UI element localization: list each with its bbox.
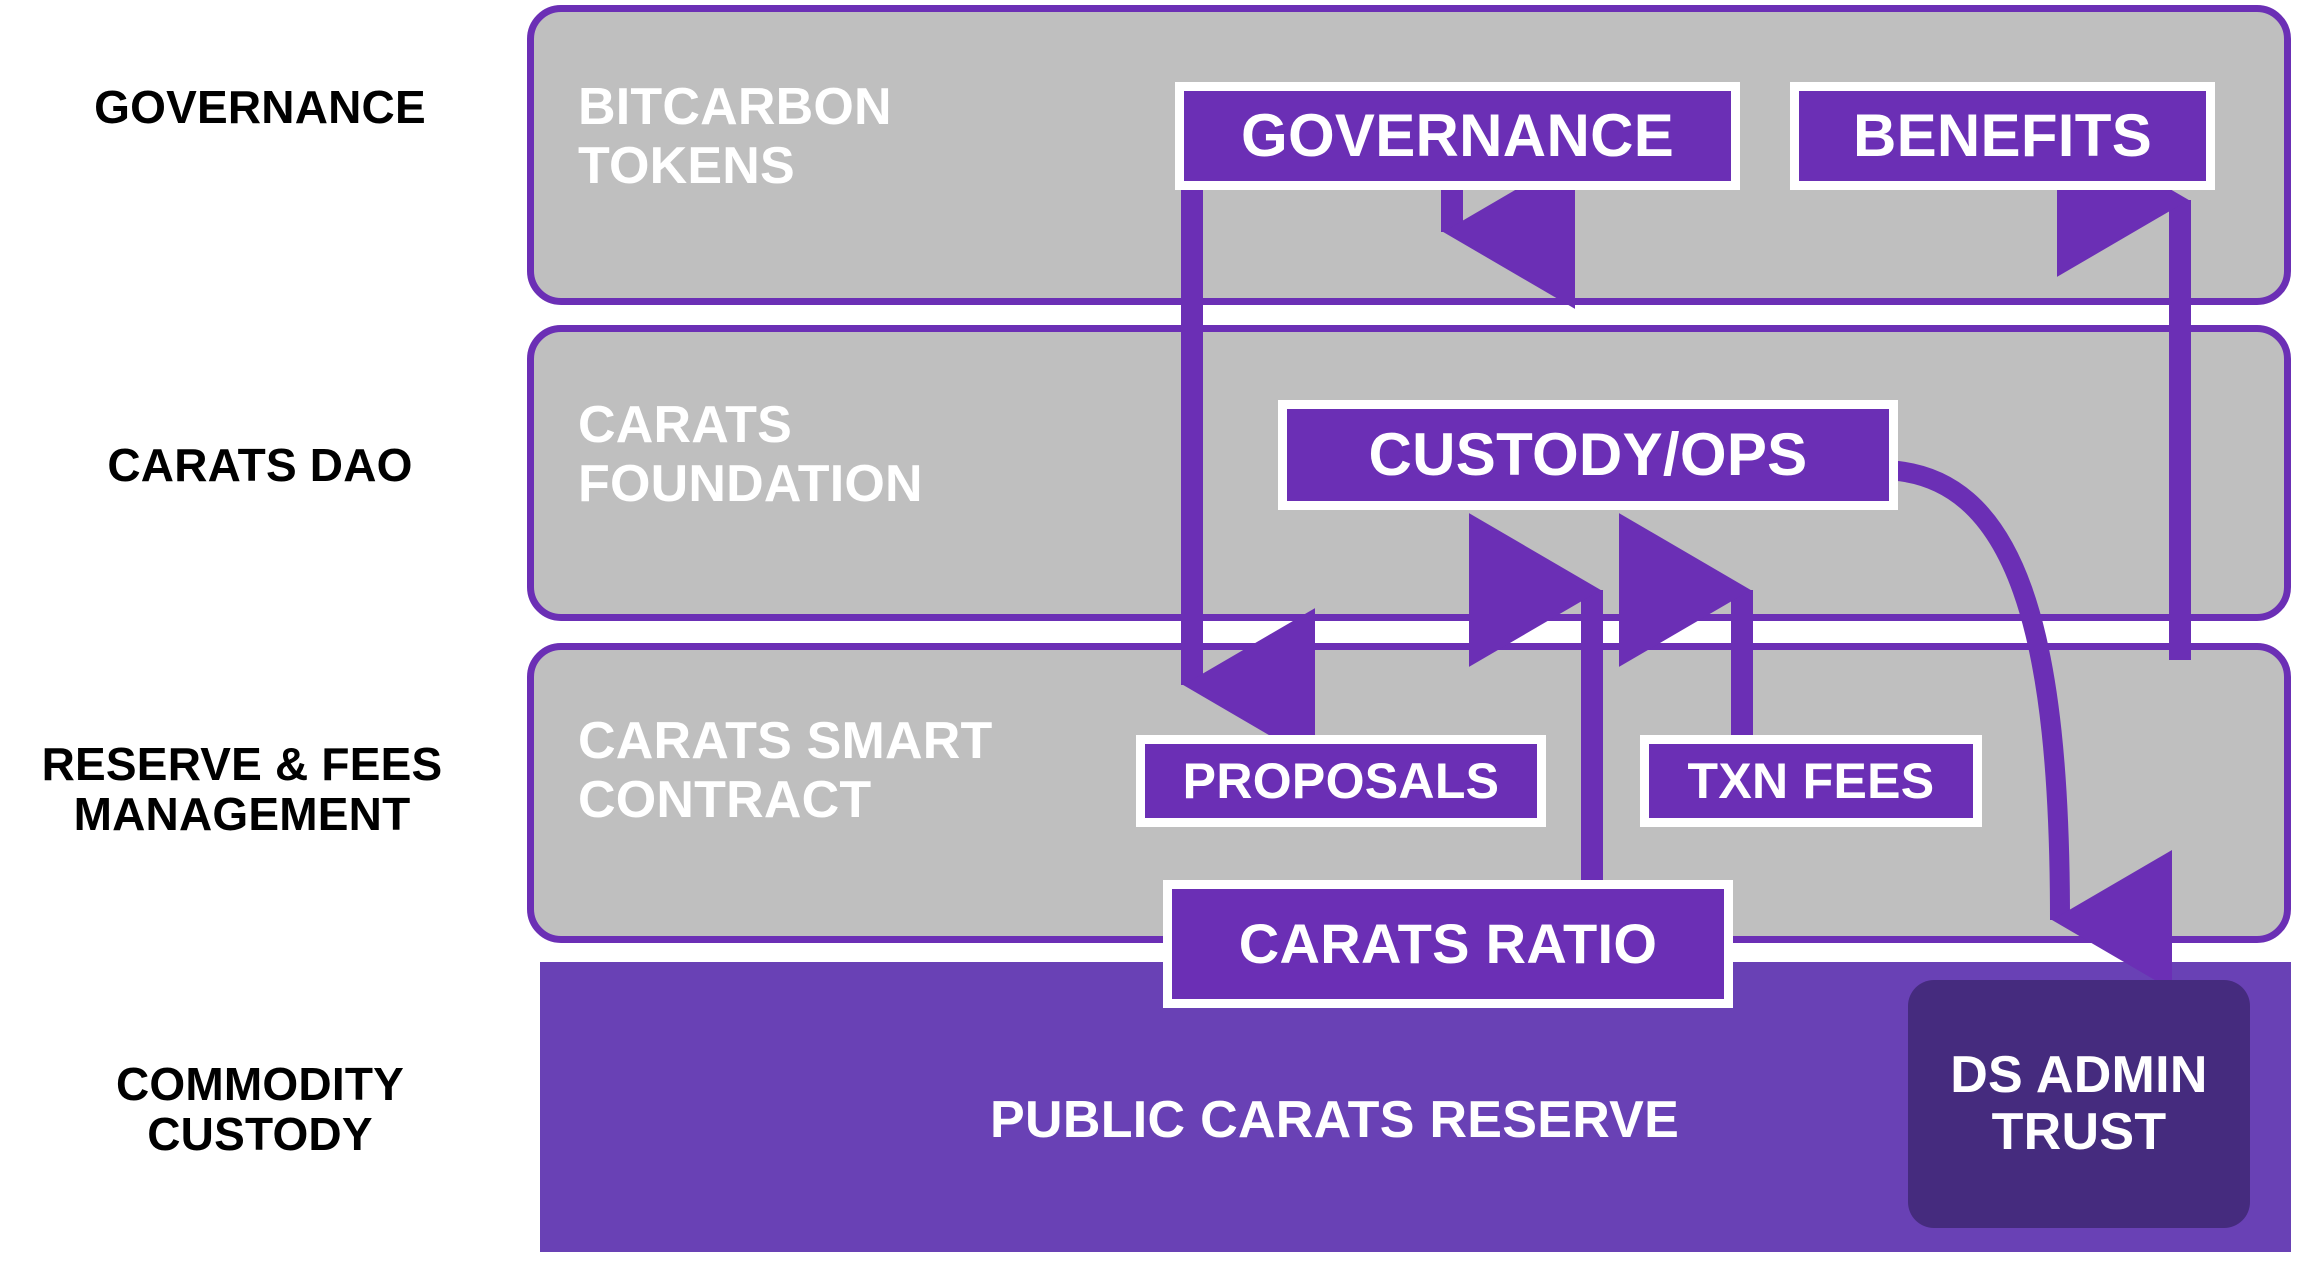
node-custody-ops[interactable]: CUSTODY/OPS (1278, 400, 1898, 510)
band-title-carats-foundation: CARATS FOUNDATION (578, 396, 923, 515)
row-label-reserve-fees-management: RESERVE & FEES MANAGEMENT (0, 730, 502, 850)
diagram-canvas: GOVERNANCE CARATS DAO RESERVE & FEES MAN… (0, 0, 2298, 1268)
band-title-carats-smart-contract: CARATS SMART CONTRACT (578, 712, 993, 831)
band-title-public-carats-reserve: PUBLIC CARATS RESERVE (990, 1090, 1679, 1150)
row-label-commodity-custody: COMMODITY CUSTODY (0, 1050, 520, 1170)
node-txn-fees[interactable]: TXN FEES (1640, 735, 1982, 827)
row-label-carats-dao: CARATS DAO (0, 420, 520, 512)
node-governance[interactable]: GOVERNANCE (1175, 82, 1740, 190)
node-ds-admin-trust[interactable]: DS ADMIN TRUST (1908, 980, 2250, 1228)
node-benefits[interactable]: BENEFITS (1790, 82, 2215, 190)
row-label-governance: GOVERNANCE (0, 62, 520, 154)
node-carats-ratio[interactable]: CARATS RATIO (1163, 880, 1733, 1008)
band-title-bitcarbon-tokens: BITCARBON TOKENS (578, 78, 892, 197)
node-proposals[interactable]: PROPOSALS (1136, 735, 1546, 827)
